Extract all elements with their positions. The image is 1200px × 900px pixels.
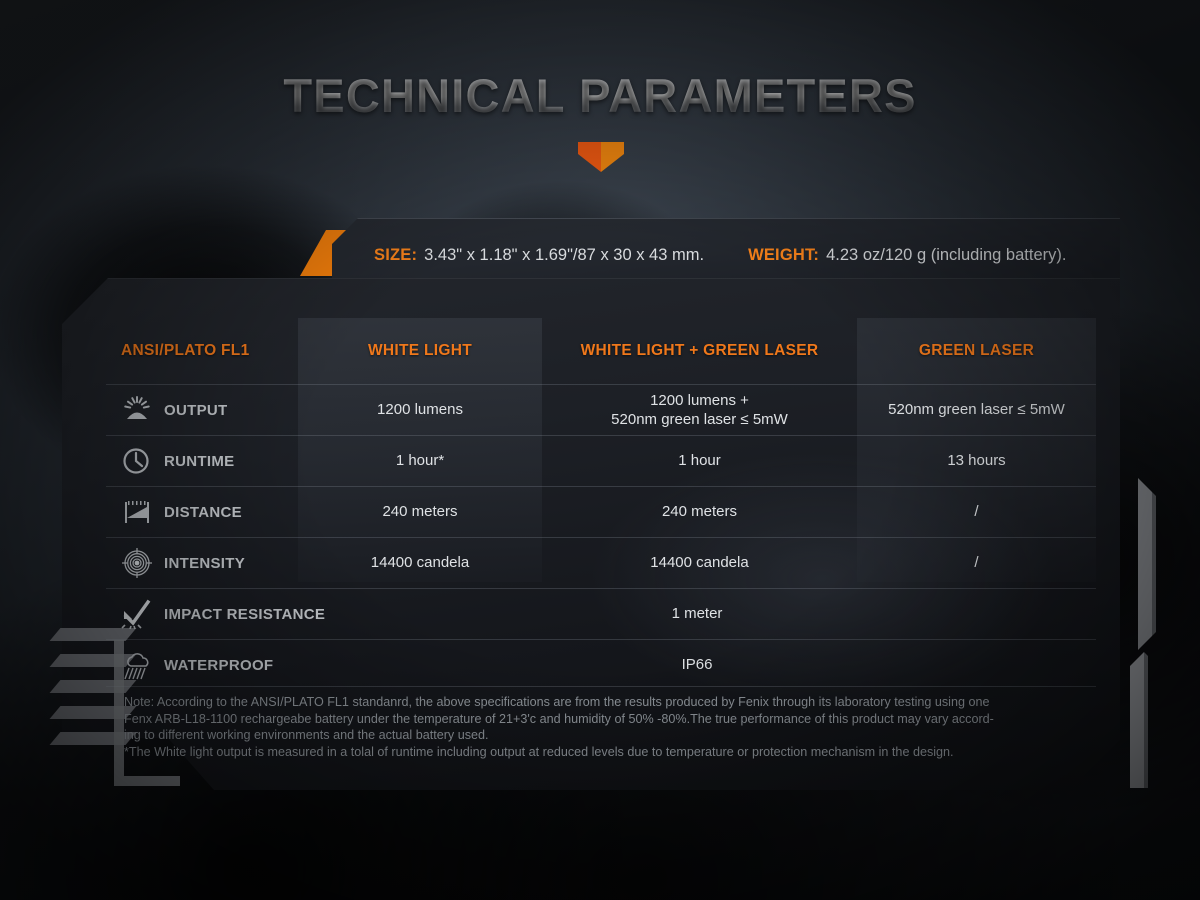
- page-title: TECHNICAL PARAMETERS: [0, 68, 1200, 123]
- cell-distance-green-laser: /: [857, 487, 1096, 537]
- row-label-text: RUNTIME: [164, 453, 234, 470]
- table-row: OUTPUT 1200 lumens 1200 lumens + 520nm g…: [106, 384, 1096, 435]
- row-label-text: WATERPROOF: [164, 657, 273, 674]
- table-header-row: ANSI/PLATO FL1 WHITE LIGHT WHITE LIGHT +…: [106, 318, 1096, 384]
- cell-output-white-light: 1200 lumens: [298, 385, 542, 435]
- weight-label: WEIGHT:: [748, 246, 819, 265]
- col-header-white-green: WHITE LIGHT + GREEN LASER: [542, 318, 857, 384]
- col-header-ansi: ANSI/PLATO FL1: [106, 318, 298, 384]
- col-header-white-light: WHITE LIGHT: [298, 318, 542, 384]
- row-label-distance: DISTANCE: [106, 487, 298, 537]
- technical-parameters-page: TECHNICAL PARAMETERS SIZE: 3.43" x 1.18"…: [0, 0, 1200, 900]
- right-accent-bars: [1130, 478, 1170, 788]
- cell-runtime-white-light: 1 hour*: [298, 436, 542, 486]
- table-bottom-divider: [106, 686, 1096, 687]
- table-row: WATERPROOF IP66: [106, 639, 1096, 690]
- chevron-down-icon: [578, 140, 624, 172]
- target-icon: [120, 548, 154, 578]
- weight-value: 4.23 oz/120 g (including battery).: [826, 246, 1066, 265]
- cell-impact-resistance-value: 1 meter: [298, 589, 1096, 639]
- row-label-text: DISTANCE: [164, 504, 242, 521]
- footnote-line-1: Note: According to the ANSI/PLATO FL1 st…: [124, 694, 1084, 711]
- footnote-line-2: Fenx ARB-L18-1100 rechargeabe battery un…: [124, 711, 1084, 728]
- size-value: 3.43" x 1.18" x 1.69"/87 x 30 x 43 mm.: [424, 246, 704, 265]
- row-label-text: INTENSITY: [164, 555, 245, 572]
- table-row: IMPACT RESISTANCE 1 meter: [106, 588, 1096, 639]
- cell-waterproof-value: IP66: [298, 640, 1096, 690]
- footnote-line-4: *The White light output is measured in a…: [124, 744, 1084, 761]
- cell-intensity-green-laser: /: [857, 538, 1096, 588]
- rain-cloud-icon: [120, 650, 154, 680]
- impact-arrow-icon: [120, 599, 154, 629]
- spec-table: ANSI/PLATO FL1 WHITE LIGHT WHITE LIGHT +…: [106, 318, 1096, 690]
- sunburst-icon: [120, 395, 154, 425]
- footnote-line-3: ing to different working environments an…: [124, 727, 1084, 744]
- row-label-text: OUTPUT: [164, 402, 227, 419]
- table-row: RUNTIME 1 hour* 1 hour 13 hours: [106, 435, 1096, 486]
- table-row: DISTANCE 240 meters 240 meters /: [106, 486, 1096, 537]
- cell-output-green-laser: 520nm green laser ≤ 5mW: [857, 385, 1096, 435]
- cell-intensity-white-green: 14400 candela: [542, 538, 857, 588]
- footnote-block: Note: According to the ANSI/PLATO FL1 st…: [124, 694, 1084, 760]
- size-label: SIZE:: [374, 246, 417, 265]
- cell-runtime-white-green: 1 hour: [542, 436, 857, 486]
- row-label-output: OUTPUT: [106, 385, 298, 435]
- clock-icon: [120, 446, 154, 476]
- cell-distance-white-green: 240 meters: [542, 487, 857, 537]
- cell-runtime-green-laser: 13 hours: [857, 436, 1096, 486]
- cell-intensity-white-light: 14400 candela: [298, 538, 542, 588]
- row-label-intensity: INTENSITY: [106, 538, 298, 588]
- cell-distance-white-light: 240 meters: [298, 487, 542, 537]
- col-header-green-laser: GREEN LASER: [857, 318, 1096, 384]
- row-label-runtime: RUNTIME: [106, 436, 298, 486]
- table-row: INTENSITY 14400 candela 14400 candela /: [106, 537, 1096, 588]
- cell-output-white-green: 1200 lumens + 520nm green laser ≤ 5mW: [542, 385, 857, 435]
- beam-distance-icon: [120, 497, 154, 527]
